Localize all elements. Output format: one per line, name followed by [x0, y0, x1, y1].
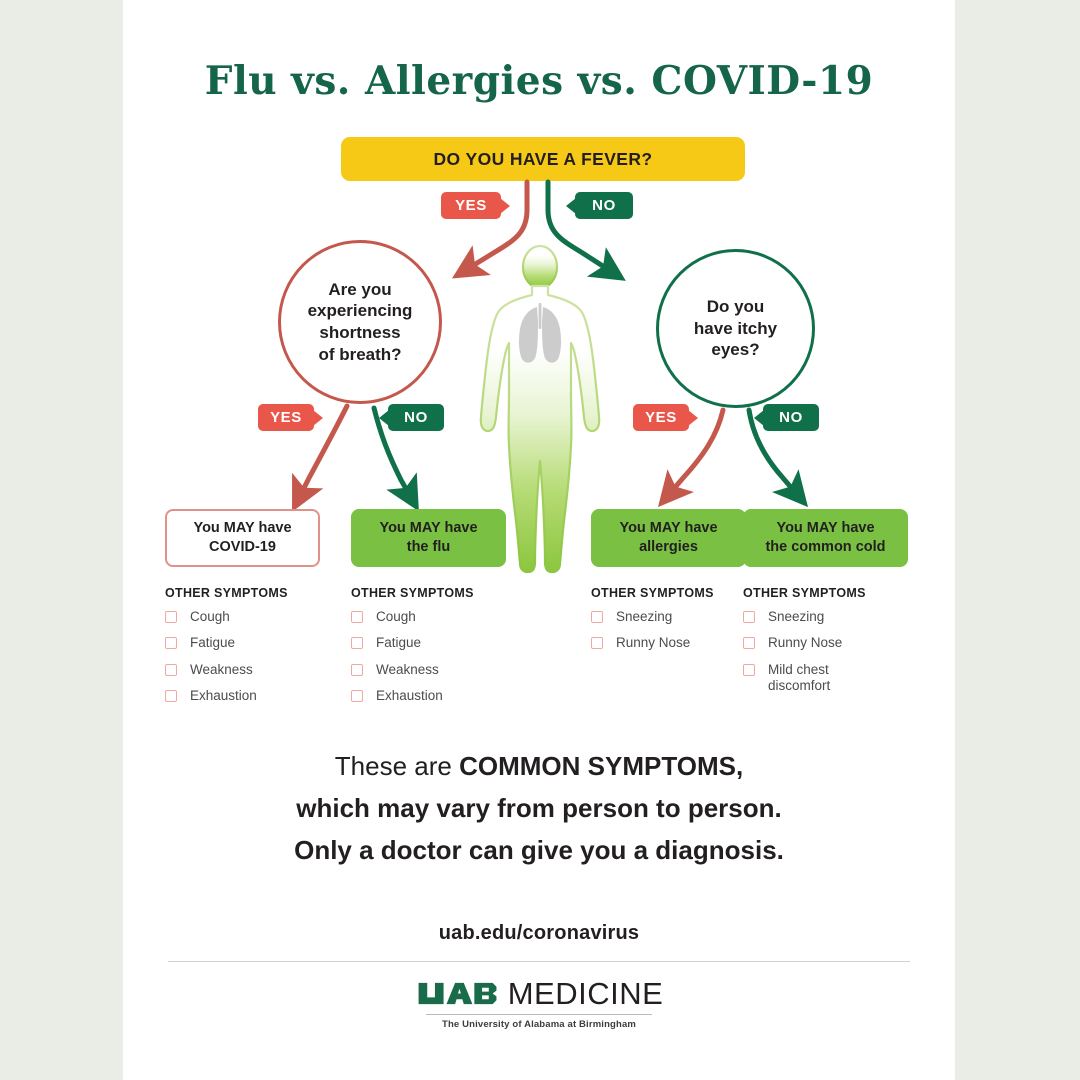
symptom-item[interactable]: Exhaustion: [165, 688, 340, 704]
uab-mark-icon: [415, 981, 501, 1006]
symptom-header: OTHER SYMPTOMS: [165, 586, 340, 600]
disclaimer-note: These are COMMON SYMPTOMS, which may var…: [123, 745, 955, 871]
symptom-header: OTHER SYMPTOMS: [743, 586, 893, 600]
symptom-column-covid: OTHER SYMPTOMS Cough Fatigue Weakness Ex…: [165, 586, 340, 715]
symptom-item[interactable]: Fatigue: [351, 635, 526, 651]
badge-root-no[interactable]: NO: [575, 192, 633, 219]
badge-tip-icon: [688, 410, 698, 426]
symptom-label: Runny Nose: [616, 635, 690, 651]
symptom-item[interactable]: Weakness: [165, 662, 340, 678]
symptom-label: Cough: [376, 609, 416, 625]
result-box-covid[interactable]: You MAY have COVID-19: [165, 509, 320, 567]
question-circle-shortness-of-breath[interactable]: Are you experiencing shortness of breath…: [278, 240, 442, 404]
checkbox-icon[interactable]: [743, 664, 755, 676]
symptom-label: Fatigue: [190, 635, 235, 651]
checkbox-icon[interactable]: [351, 664, 363, 676]
checkbox-icon[interactable]: [351, 637, 363, 649]
checkbox-icon[interactable]: [165, 611, 177, 623]
symptom-header: OTHER SYMPTOMS: [591, 586, 766, 600]
result-box-allergies[interactable]: You MAY have allergies: [591, 509, 746, 567]
badge-root-yes-label: YES: [455, 197, 487, 214]
symptom-label: Exhaustion: [376, 688, 443, 704]
note-line-3: Only a doctor can give you a diagnosis.: [123, 829, 955, 871]
question-circle-itchy-eyes[interactable]: Do you have itchy eyes?: [656, 249, 815, 408]
question-circle-shortness-of-breath-label: Are you experiencing shortness of breath…: [308, 279, 413, 366]
badge-tip-icon: [754, 410, 764, 426]
symptom-label: Fatigue: [376, 635, 421, 651]
checkbox-icon[interactable]: [165, 637, 177, 649]
badge-right-yes[interactable]: YES: [633, 404, 689, 431]
badge-root-no-label: NO: [592, 197, 616, 214]
symptom-label: Exhaustion: [190, 688, 257, 704]
badge-right-no-label: NO: [779, 409, 803, 426]
logo-divider: [426, 1014, 652, 1015]
symptom-item[interactable]: Sneezing: [743, 609, 893, 625]
badge-left-yes-label: YES: [270, 409, 302, 426]
root-question-label: DO YOU HAVE A FEVER?: [434, 149, 653, 170]
badge-left-no[interactable]: NO: [388, 404, 444, 431]
checkbox-icon[interactable]: [743, 637, 755, 649]
symptom-item[interactable]: Runny Nose: [743, 635, 893, 651]
checkbox-icon[interactable]: [591, 637, 603, 649]
symptom-item[interactable]: Fatigue: [165, 635, 340, 651]
result-box-common-cold[interactable]: You MAY have the common cold: [743, 509, 908, 567]
symptom-item[interactable]: Mild chest discomfort: [743, 662, 893, 695]
badge-right-yes-label: YES: [645, 409, 677, 426]
footer-divider: [168, 961, 910, 962]
badge-left-yes[interactable]: YES: [258, 404, 314, 431]
symptom-label: Sneezing: [768, 609, 824, 625]
logo-tagline: The University of Alabama at Birmingham: [123, 1019, 955, 1030]
badge-left-no-label: NO: [404, 409, 428, 426]
checkbox-icon[interactable]: [165, 690, 177, 702]
symptom-column-common-cold: OTHER SYMPTOMS Sneezing Runny Nose Mild …: [743, 586, 893, 705]
symptom-label: Runny Nose: [768, 635, 842, 651]
symptom-item[interactable]: Sneezing: [591, 609, 766, 625]
logo-lockup: MEDICINE: [415, 976, 664, 1010]
symptom-header: OTHER SYMPTOMS: [351, 586, 526, 600]
poster-canvas: Flu vs. Allergies vs. COVID-19: [123, 0, 955, 1080]
symptom-label: Cough: [190, 609, 230, 625]
checkbox-icon[interactable]: [591, 611, 603, 623]
badge-right-no[interactable]: NO: [763, 404, 819, 431]
symptom-item[interactable]: Runny Nose: [591, 635, 766, 651]
note-line-2: which may vary from person to person.: [123, 787, 955, 829]
logo-wordmark: MEDICINE: [508, 978, 664, 1009]
badge-root-yes[interactable]: YES: [441, 192, 501, 219]
result-box-common-cold-label: You MAY have the common cold: [765, 519, 885, 557]
badge-tip-icon: [313, 410, 323, 426]
checkbox-icon[interactable]: [165, 664, 177, 676]
infographic-page: Flu vs. Allergies vs. COVID-19: [0, 0, 1080, 1080]
footer-url[interactable]: uab.edu/coronavirus: [123, 922, 955, 945]
symptom-column-flu: OTHER SYMPTOMS Cough Fatigue Weakness Ex…: [351, 586, 526, 715]
symptom-item[interactable]: Weakness: [351, 662, 526, 678]
note-line-1: These are COMMON SYMPTOMS,: [123, 745, 955, 787]
symptom-label: Weakness: [190, 662, 253, 678]
symptom-label: Mild chest discomfort: [768, 662, 868, 695]
question-circle-itchy-eyes-label: Do you have itchy eyes?: [694, 296, 777, 361]
result-box-flu-label: You MAY have the flu: [379, 519, 477, 557]
badge-tip-icon: [379, 410, 389, 426]
result-box-flu[interactable]: You MAY have the flu: [351, 509, 506, 567]
symptom-item[interactable]: Exhaustion: [351, 688, 526, 704]
checkbox-icon[interactable]: [351, 611, 363, 623]
page-title: Flu vs. Allergies vs. COVID-19: [123, 58, 955, 104]
root-question-banner[interactable]: DO YOU HAVE A FEVER?: [341, 137, 745, 181]
checkbox-icon[interactable]: [743, 611, 755, 623]
result-box-allergies-label: You MAY have allergies: [619, 519, 717, 557]
symptom-label: Sneezing: [616, 609, 672, 625]
symptom-column-allergies: OTHER SYMPTOMS Sneezing Runny Nose: [591, 586, 766, 662]
symptom-label: Weakness: [376, 662, 439, 678]
checkbox-icon[interactable]: [351, 690, 363, 702]
symptom-item[interactable]: Cough: [165, 609, 340, 625]
badge-tip-icon: [500, 198, 510, 214]
badge-tip-icon: [566, 198, 576, 214]
uab-medicine-logo: MEDICINE The University of Alabama at Bi…: [123, 976, 955, 1030]
result-box-covid-label: You MAY have COVID-19: [193, 519, 291, 557]
symptom-item[interactable]: Cough: [351, 609, 526, 625]
